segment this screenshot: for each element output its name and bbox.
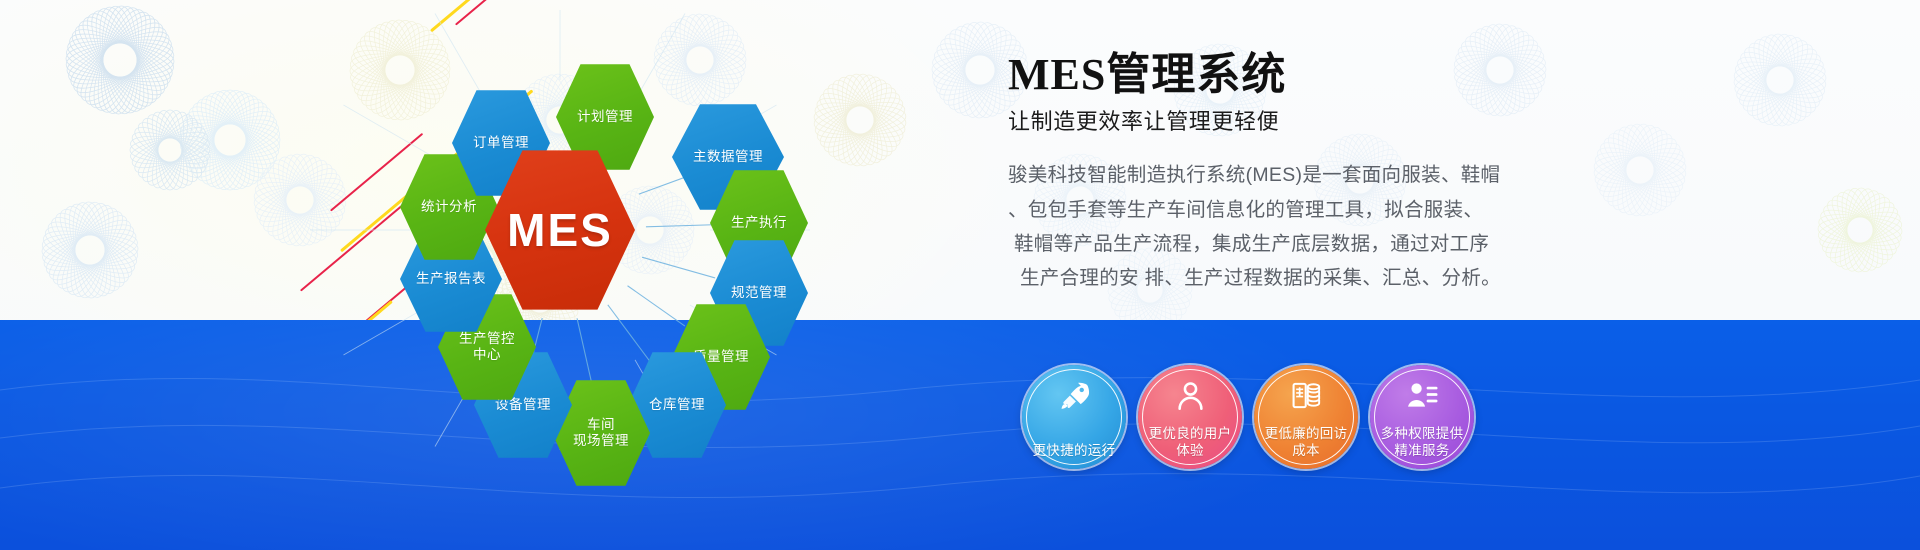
hex-node-label: 生产执行 xyxy=(731,215,787,231)
badge-label: 多种权限提供精准服务 xyxy=(1373,425,1472,460)
coins-icon xyxy=(1254,378,1358,412)
page-description: 骏美科技智能制造执行系统(MES)是一套面向服装、鞋帽 、包包手套等生产车间信息… xyxy=(1008,158,1588,295)
banner-copy: MES管理系统 让制造更效率让管理更轻便 骏美科技智能制造执行系统(MES)是一… xyxy=(1008,52,1588,295)
description-line: 骏美科技智能制造执行系统(MES)是一套面向服装、鞋帽 xyxy=(1008,158,1588,192)
hex-node-label: 计划管理 xyxy=(577,109,633,125)
hex-node-label: 主数据管理 xyxy=(693,149,763,165)
page-subtitle: 让制造更效率让管理更轻便 xyxy=(1008,104,1588,136)
hex-node-label: 规范管理 xyxy=(731,285,787,301)
permissions-icon xyxy=(1370,378,1474,412)
hex-node-label: 生产报告表 xyxy=(416,271,486,287)
hex-node-label: 生产管控中心 xyxy=(459,331,515,364)
feature-badge-1[interactable]: 更快捷的运行 xyxy=(1022,365,1126,469)
feature-badge-3[interactable]: 更低廉的回访成本 xyxy=(1254,365,1358,469)
rocket-icon xyxy=(1022,378,1126,412)
description-line: 、包包手套等生产车间信息化的管理工具，拟合服装、 xyxy=(1008,193,1588,227)
badge-label: 更快捷的运行 xyxy=(1025,442,1124,460)
badge-label: 更优良的用户体验 xyxy=(1141,425,1240,460)
banner-root: 计划管理主数据管理生产执行规范管理质量管理仓库管理车间现场管理设备管理生产管控中… xyxy=(0,0,1920,550)
hex-node-label: 仓库管理 xyxy=(649,397,705,413)
description-line: 鞋帽等产品生产流程，集成生产底层数据，通过对工序 xyxy=(1008,227,1588,261)
badge-label: 更低廉的回访成本 xyxy=(1257,425,1356,460)
feature-badge-2[interactable]: 更优良的用户体验 xyxy=(1138,365,1242,469)
hex-node-label: 订单管理 xyxy=(473,135,529,151)
feature-badge-list: 更快捷的运行更优良的用户体验更低廉的回访成本多种权限提供精准服务 xyxy=(1022,365,1474,469)
hex-node-label: 车间现场管理 xyxy=(573,417,629,450)
hex-center-label: MES xyxy=(507,202,613,258)
page-title: MES管理系统 xyxy=(1008,52,1588,98)
band-wave-lines xyxy=(0,320,1920,550)
hex-node-label: 统计分析 xyxy=(421,199,477,215)
mes-hex-diagram: 计划管理主数据管理生产执行规范管理质量管理仓库管理车间现场管理设备管理生产管控中… xyxy=(300,10,820,450)
user-icon xyxy=(1138,378,1242,412)
feature-badge-4[interactable]: 多种权限提供精准服务 xyxy=(1370,365,1474,469)
description-line: 生产合理的安 排、生产过程数据的采集、汇总、分析。 xyxy=(1008,261,1588,295)
